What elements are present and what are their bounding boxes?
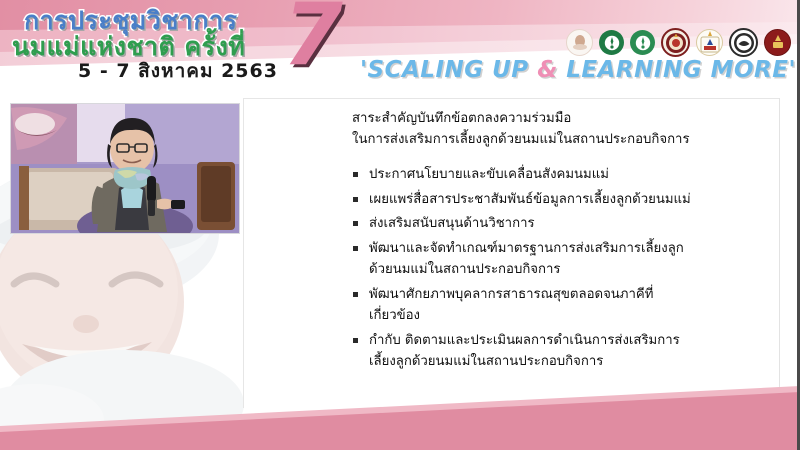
breastfeeding-foundation-logo	[729, 28, 758, 57]
tagline-ampersand: &	[537, 57, 558, 83]
bullet-6-line-1: กำกับ ติดตามและประเมินผลการดำเนินการส่งเ…	[369, 331, 772, 352]
list-item: ส่งเสริมสนับสนุนด้านวิชาการ	[352, 214, 772, 235]
bullet-2-line-1: เผยแพร่สื่อสารประชาสัมพันธ์ข้อมูลการเลี้…	[369, 190, 772, 211]
conference-date: 5 - 7 สิงหาคม 2563	[78, 56, 278, 86]
list-item: กำกับ ติดตามและประเมินผลการดำเนินการส่งเ…	[352, 331, 772, 373]
list-item: พัฒนาศักยภาพบุคลากรสาธารณสุขตลอดจนภาคีที…	[352, 285, 772, 327]
content-panel-right-divider	[779, 98, 780, 408]
slide-body: สาระสำคัญบันทึกข้อตกลงความร่วมมือ ในการส…	[0, 96, 800, 450]
bullet-5-line-1: พัฒนาศักยภาพบุคลากรสาธารณสุขตลอดจนภาคีที…	[369, 285, 772, 306]
content-panel-left-divider	[243, 98, 244, 408]
bullet-1-line-1: ประกาศนโยบายและขับเคลื่อนสังคมนมแม่	[369, 165, 772, 186]
list-item: เผยแพร่สื่อสารประชาสัมพันธ์ข้อมูลการเลี้…	[352, 190, 772, 211]
bullet-4-line-2: ด้วยนมแม่ในสถานประกอบกิจการ	[369, 260, 772, 281]
content-lead-line-2: ในการส่งเสริมการเลี้ยงลูกด้วยนมแม่ในสถาน…	[352, 129, 772, 150]
conference-tagline: 'SCALING UP & LEARNING MORE'	[360, 57, 796, 83]
list-item: พัฒนาและจัดทำเกณฑ์มาตรฐานการส่งเสริมการเ…	[352, 239, 772, 281]
bullet-3-line-1: ส่งเสริมสนับสนุนด้านวิชาการ	[369, 214, 772, 235]
bullet-6-line-2: เลี้ยงลูกด้วยนมแม่ในสถานประกอบกิจการ	[369, 352, 772, 373]
bullet-5-line-2: เกี่ยวข้อง	[369, 306, 772, 327]
bullet-4-line-1: พัฒนาและจัดทำเกณฑ์มาตรฐานการส่งเสริมการเ…	[369, 239, 772, 260]
ministry-of-public-health-logo	[599, 30, 624, 55]
presentation-slide: การประชุมวิชาการ นมแม่แห่งชาติ ครั้งที่ …	[0, 0, 800, 450]
content-text-block: สาระสำคัญบันทึกข้อตกลงความร่วมมือ ในการส…	[352, 108, 772, 376]
content-lead-paragraph: สาระสำคัญบันทึกข้อตกลงความร่วมมือ ในการส…	[352, 108, 772, 151]
list-item: ประกาศนโยบายและขับเคลื่อนสังคมนมแม่	[352, 165, 772, 186]
royal-seal-logo	[566, 29, 593, 56]
slide-header-banner: การประชุมวิชาการ นมแม่แห่งชาติ ครั้งที่ …	[0, 0, 800, 96]
speaker-video-thumbnail[interactable]	[10, 103, 240, 234]
content-panel-top-border	[243, 98, 780, 99]
national-institute-logo	[764, 29, 791, 56]
department-of-health-logo	[630, 30, 655, 55]
conference-edition-number: 7	[283, 0, 343, 78]
organizer-logo-row: สสส	[566, 28, 800, 57]
royal-college-logo	[696, 29, 723, 56]
thai-pediatric-logo	[661, 28, 690, 57]
tagline-part-2: LEARNING MORE'	[558, 57, 796, 83]
content-bullet-list: ประกาศนโยบายและขับเคลื่อนสังคมนมแม่ เผยแ…	[352, 165, 772, 373]
tagline-part-1: 'SCALING UP	[360, 57, 537, 83]
content-lead-line-1: สาระสำคัญบันทึกข้อตกลงความร่วมมือ	[352, 108, 772, 129]
